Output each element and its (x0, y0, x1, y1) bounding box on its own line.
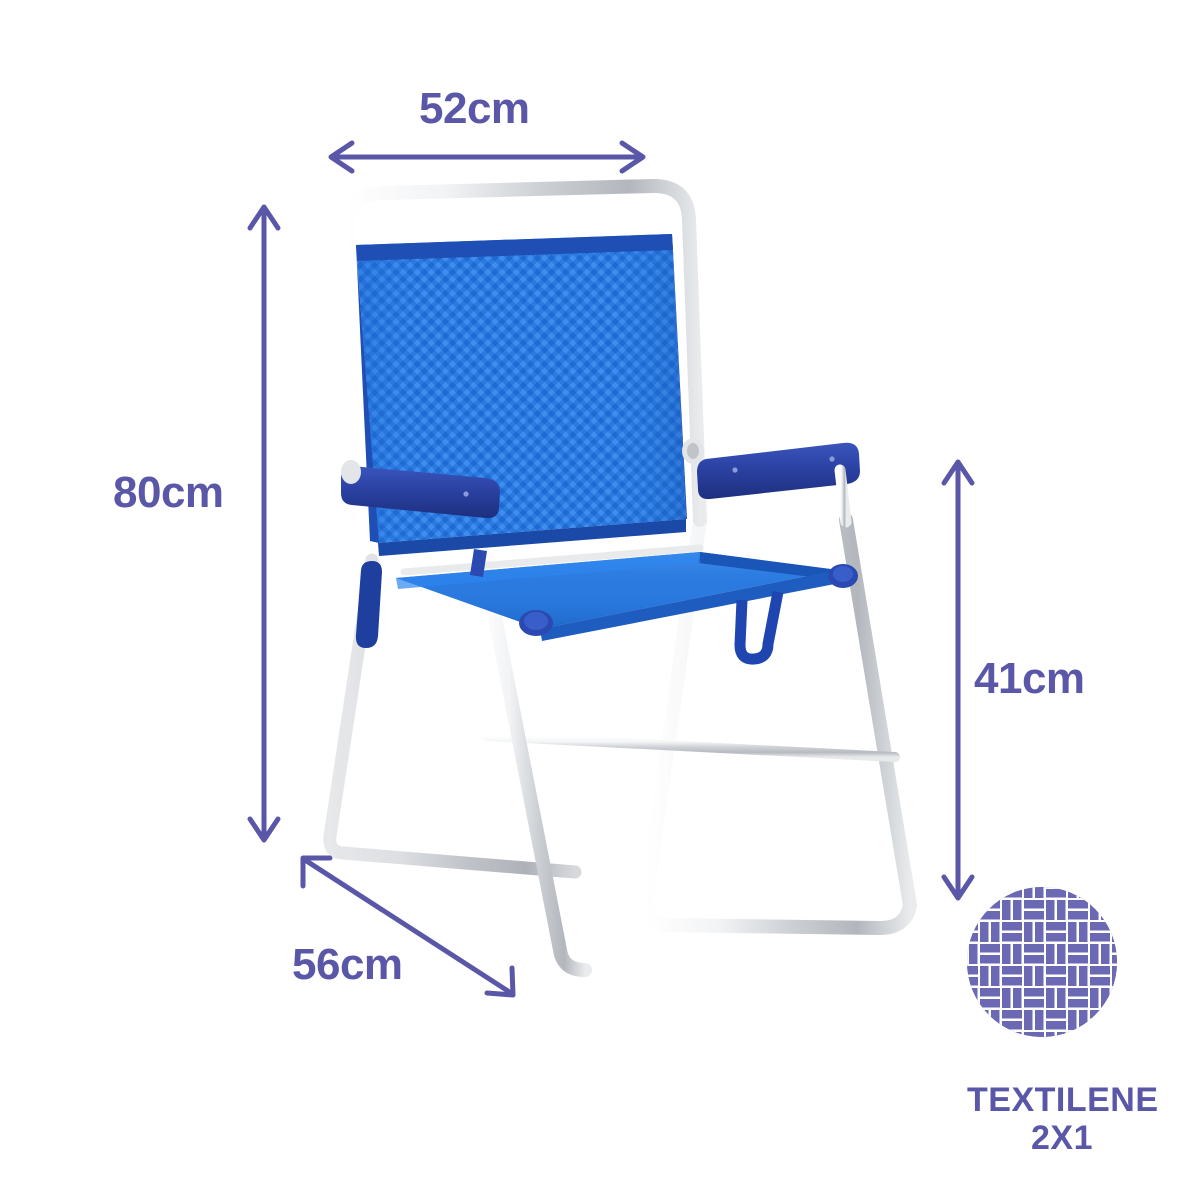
dimension-arrow-width (331, 143, 643, 171)
dimension-label-height: 80cm (113, 468, 224, 518)
textilene-weave-icon (967, 887, 1117, 1037)
dimension-label-seat-height: 41cm (974, 654, 1085, 704)
textilene-badge: TEXTILENE 2X1 (967, 887, 1157, 1177)
chair-cross-brace (486, 736, 895, 757)
chair-carry-strap (740, 592, 778, 659)
chair-armrest-support-right (840, 470, 846, 522)
dimension-arrow-seat-height (944, 462, 972, 898)
dimension-arrow-height (250, 207, 278, 840)
product-dimension-diagram: 52cm 80cm 56cm 41cm (0, 0, 1200, 1200)
dimension-label-width: 52cm (419, 84, 530, 134)
textilene-label-line1: TEXTILENE (967, 1081, 1157, 1120)
beach-chair-illustration (330, 186, 910, 970)
weave-pattern-svg (967, 887, 1117, 1037)
textilene-label-line2: 2X1 (967, 1119, 1157, 1158)
dimension-label-depth: 56cm (292, 940, 403, 990)
